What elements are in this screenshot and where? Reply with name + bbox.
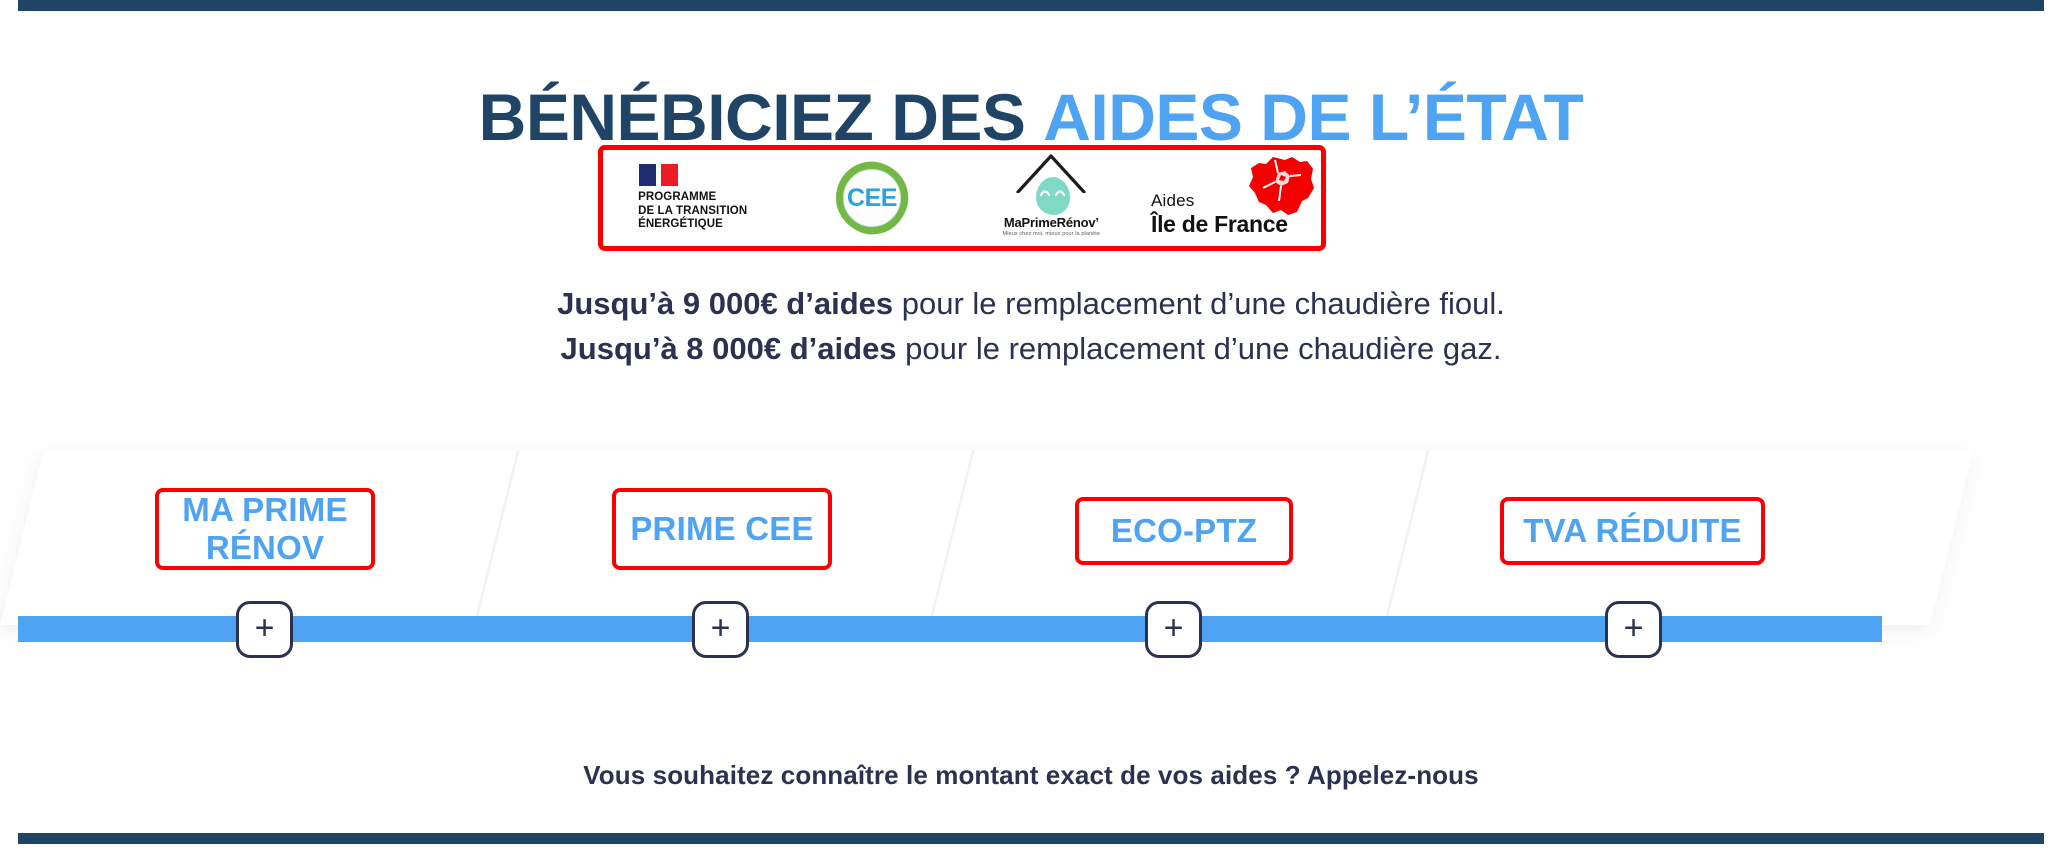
plus-icon: + <box>1624 611 1644 645</box>
aid-amount-line-gaz: Jusqu’à 8 000€ d’aides pour le remplacem… <box>0 327 2062 372</box>
logo-programme-transition-energetique: PROGRAMME DE LA TRANSITION ÉNERGÉTIQUE <box>603 150 782 246</box>
ribbon-blue-bar <box>18 616 1882 642</box>
bottom-divider-bar <box>18 833 2044 844</box>
page-title-light-part: AIDES DE L’ÉTAT <box>1043 80 1583 154</box>
logo-maprimerenov: MaPrimeRénov’ Mieux chez moi, mieux pour… <box>962 150 1141 246</box>
call-to-action-text: Vous souhaitez connaître le montant exac… <box>0 760 2062 791</box>
aid-box-prime-cee-label: PRIME CEE <box>630 510 813 548</box>
aid-amount-line-fioul: Jusqu’à 9 000€ d’aides pour le remplacem… <box>0 282 2062 327</box>
aid-box-ma-prime-renov[interactable]: MA PRIME RÉNOV <box>155 488 375 570</box>
aid-box-tva-reduite-label: TVA RÉDUITE <box>1523 512 1742 550</box>
expand-button-prime-cee[interactable]: + <box>692 601 749 658</box>
logo-maprimerenov-tagline: Mieux chez moi, mieux pour la planète <box>991 231 1111 237</box>
aid-amount-lines: Jusqu’à 9 000€ d’aides pour le remplacem… <box>0 282 2062 372</box>
expand-button-tva-reduite[interactable]: + <box>1605 601 1662 658</box>
aid-amount-gaz-bold: Jusqu’à 8 000€ d’aides <box>561 331 897 366</box>
aid-amount-fioul-bold: Jusqu’à 9 000€ d’aides <box>557 286 893 321</box>
logo-pte-line2: DE LA TRANSITION <box>638 205 747 219</box>
partner-logos-strip: PROGRAMME DE LA TRANSITION ÉNERGÉTIQUE C… <box>598 145 1326 251</box>
logo-pte-line1: PROGRAMME <box>638 191 747 205</box>
smiling-eyes-icon <box>1040 187 1066 197</box>
aid-box-eco-ptz-label: ECO-PTZ <box>1111 512 1257 550</box>
logo-aides-ile-de-france: Aides Île de France <box>1141 150 1321 246</box>
french-flag-icon <box>639 164 678 186</box>
logo-idf-line2: Île de France <box>1151 211 1288 238</box>
logo-idf-line1: Aides <box>1151 191 1195 211</box>
logo-cee-text: CEE <box>847 186 897 211</box>
page-title-dark-part: BÉNÉBICIEZ DES <box>479 80 1026 154</box>
logo-cee: CEE <box>782 150 961 246</box>
top-divider-bar <box>18 0 2044 11</box>
ile-de-france-map-icon <box>1245 155 1317 217</box>
plus-icon: + <box>1164 611 1184 645</box>
expand-button-ma-prime-renov[interactable]: + <box>236 601 293 658</box>
plus-icon: + <box>711 611 731 645</box>
aid-box-ma-prime-renov-label: MA PRIME RÉNOV <box>159 491 371 567</box>
aid-box-tva-reduite[interactable]: TVA RÉDUITE <box>1500 497 1765 565</box>
page-title-space <box>1025 80 1043 154</box>
plus-icon: + <box>255 611 275 645</box>
aid-amount-fioul-rest: pour le remplacement d’une chaudière fio… <box>893 286 1505 321</box>
page-title: BÉNÉBICIEZ DES AIDES DE L’ÉTAT <box>0 84 2062 150</box>
expand-button-eco-ptz[interactable]: + <box>1145 601 1202 658</box>
cee-badge-icon: CEE <box>836 162 908 234</box>
aid-amount-gaz-rest: pour le remplacement d’une chaudière gaz… <box>897 331 1502 366</box>
logo-pte-line3: ÉNERGÉTIQUE <box>638 218 747 232</box>
aid-box-prime-cee[interactable]: PRIME CEE <box>612 488 832 570</box>
logo-maprimerenov-name: MaPrimeRénov’ <box>991 215 1111 230</box>
aid-box-eco-ptz[interactable]: ECO-PTZ <box>1075 497 1293 565</box>
